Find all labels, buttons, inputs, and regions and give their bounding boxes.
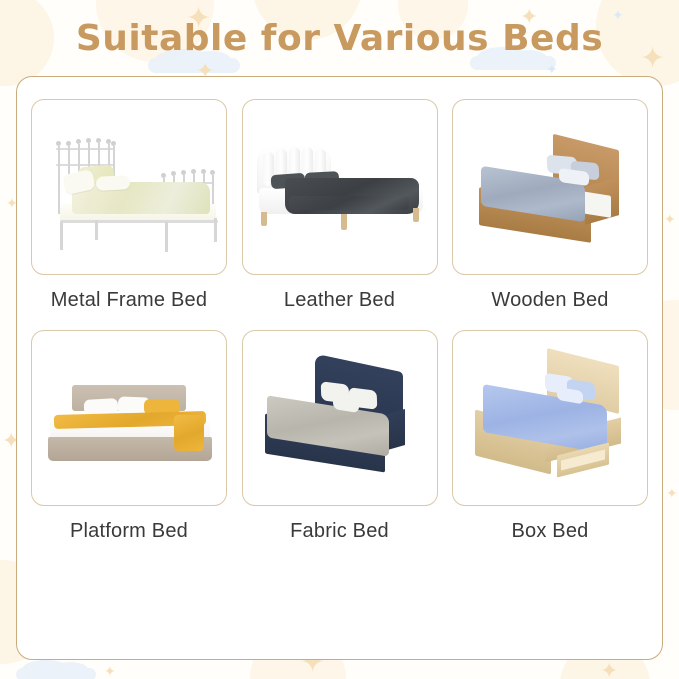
- beds-grid: Metal Frame Bed: [17, 77, 662, 659]
- metal-frame-bed-illustration: [32, 100, 226, 274]
- bed-card-box-bed[interactable]: Box Bed: [452, 330, 648, 543]
- bed-card-metal-frame-bed[interactable]: Metal Frame Bed: [31, 99, 227, 312]
- star-icon: ✦: [104, 664, 116, 678]
- bed-image-wooden-bed: [452, 99, 648, 275]
- leather-bed-illustration: [243, 100, 437, 274]
- wooden-bed-illustration: [453, 100, 647, 274]
- bed-image-box-bed: [452, 330, 648, 506]
- promo-page: ✦ ✦ ✦ ✦ ✦ ✦ ✦ ✦ ✦ ✦ ✦ ✦ ✦ Suitable for V…: [0, 0, 679, 679]
- beds-panel: Metal Frame Bed: [16, 76, 663, 660]
- bed-image-leather-bed: [242, 99, 438, 275]
- beds-row: Platform Bed: [31, 330, 648, 543]
- bed-card-leather-bed[interactable]: Leather Bed: [242, 99, 438, 312]
- bed-label: Box Bed: [511, 520, 588, 543]
- bed-label: Metal Frame Bed: [51, 289, 207, 312]
- bed-label: Wooden Bed: [491, 289, 608, 312]
- bed-card-platform-bed[interactable]: Platform Bed: [31, 330, 227, 543]
- bed-card-fabric-bed[interactable]: Fabric Bed: [242, 330, 438, 543]
- cloud-shape: [148, 58, 240, 73]
- page-title: Suitable for Various Beds: [0, 18, 679, 59]
- bed-label: Fabric Bed: [290, 520, 389, 543]
- star-icon: ✦: [546, 62, 558, 76]
- star-icon: ✦: [666, 486, 678, 500]
- bed-image-metal-frame-bed: [31, 99, 227, 275]
- box-bed-illustration: [453, 331, 647, 505]
- bed-card-wooden-bed[interactable]: Wooden Bed: [452, 99, 648, 312]
- bed-label: Leather Bed: [284, 289, 395, 312]
- star-icon: ✦: [600, 660, 618, 679]
- cloud-shape: [16, 668, 96, 679]
- bed-image-platform-bed: [31, 330, 227, 506]
- bed-label: Platform Bed: [70, 520, 188, 543]
- bed-image-fabric-bed: [242, 330, 438, 506]
- fabric-bed-illustration: [243, 331, 437, 505]
- beds-row: Metal Frame Bed: [31, 99, 648, 312]
- star-icon: ✦: [664, 212, 676, 226]
- platform-bed-illustration: [32, 331, 226, 505]
